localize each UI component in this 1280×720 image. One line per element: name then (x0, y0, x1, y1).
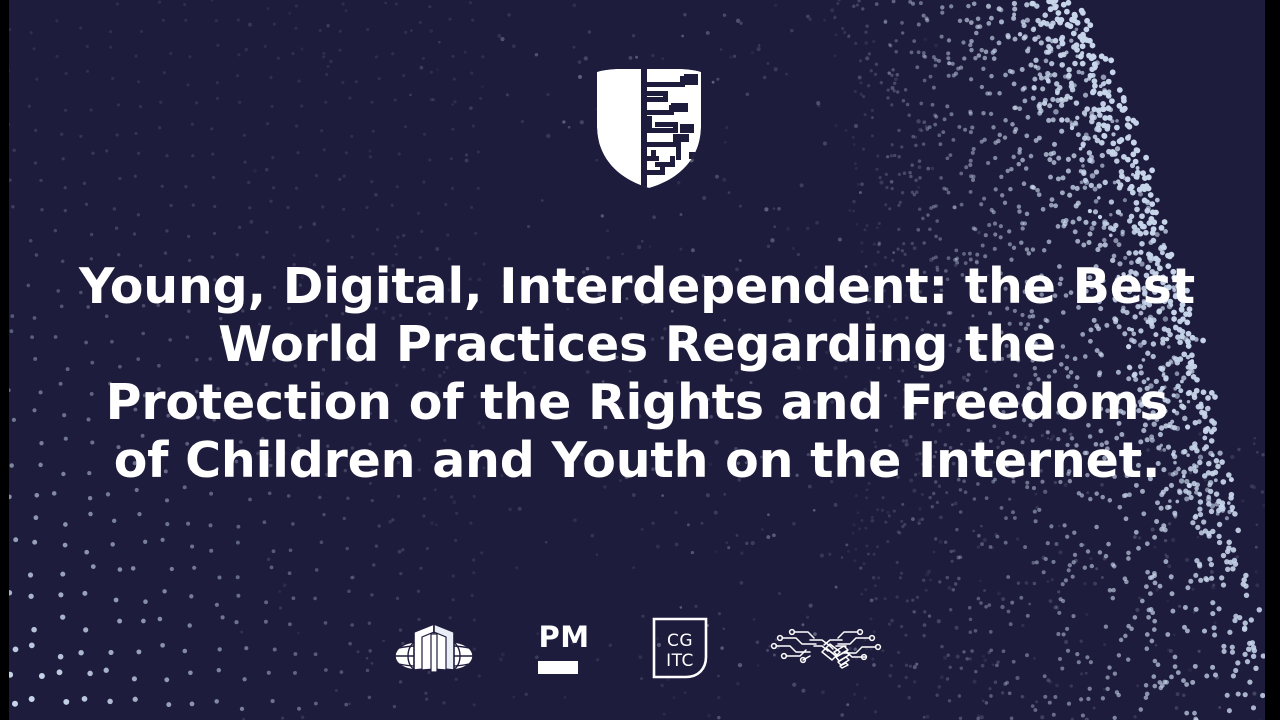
page-title: Young, Digital, Interdependent: the Best… (9, 258, 1265, 490)
shield-circuit-logo (585, 64, 713, 192)
letterbox-left (0, 0, 9, 720)
title-line-1: Young, Digital, Interdependent: the Best (79, 258, 1195, 316)
partner-logo-handshake (770, 612, 882, 684)
title-line-3: Protection of the Rights and Freedoms (79, 374, 1195, 432)
presentation-slide: Young, Digital, Interdependent: the Best… (0, 0, 1280, 720)
slide-stage: Young, Digital, Interdependent: the Best… (9, 0, 1265, 720)
partner-logo-pm: PM (538, 612, 589, 684)
title-line-4: of Children and Youth on the Internet. (79, 432, 1195, 490)
title-block: Young, Digital, Interdependent: the Best… (9, 258, 1265, 490)
partner-logo-book-globe (392, 612, 476, 684)
circuit-handshake-icon (770, 622, 882, 674)
svg-text:ITC: ITC (666, 651, 694, 671)
partner-logo-row: PM CG ITC (9, 608, 1265, 688)
svg-text:CG: CG (667, 631, 693, 651)
pm-underline-bar (538, 661, 578, 674)
title-line-2: World Practices Regarding the (79, 316, 1195, 374)
partner-logo-cgitc: CG ITC (652, 612, 708, 684)
pm-wordmark-text: PM (538, 623, 589, 652)
letterbox-right (1265, 0, 1280, 720)
book-globe-icon (392, 620, 476, 676)
cgitc-monogram: CG ITC (652, 617, 708, 679)
